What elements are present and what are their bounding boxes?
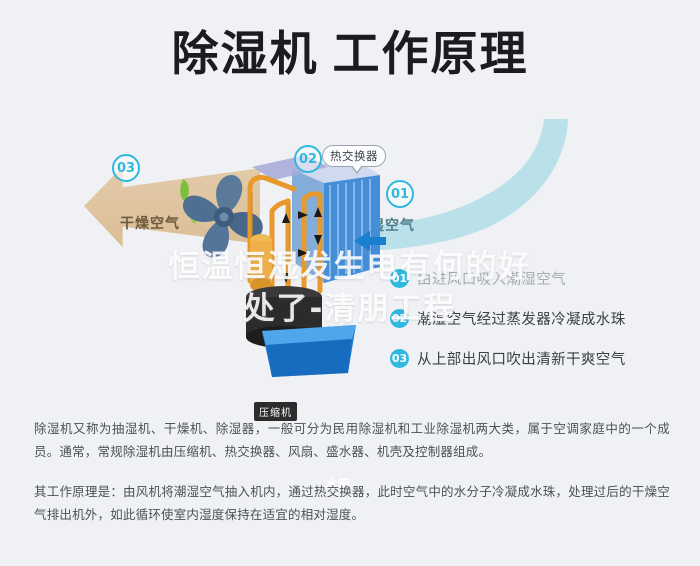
paragraph-2: 其工作原理是：由风机将潮湿空气抽入机内，通过热交换器，此时空气中的水分子冷凝成水… [34, 481, 670, 527]
infographic-page: 除湿机工作原理 干燥空气 潮湿空气 [0, 0, 700, 566]
step-label: 潮湿空气经过蒸发器冷凝成水珠 [417, 308, 626, 329]
step-badge-03: 03 [112, 154, 140, 182]
title-part-1: 除湿机 [172, 27, 319, 82]
list-item: 01 由进风口吸入潮湿空气 [390, 258, 680, 298]
dehumidifier-machine [228, 149, 388, 385]
step-badge-01: 01 [386, 180, 414, 208]
step-number: 02 [390, 309, 409, 328]
list-item: 02 潮湿空气经过蒸发器冷凝成水珠 [390, 298, 680, 338]
step-badge-02: 02 [294, 145, 322, 173]
page-title: 除湿机工作原理 [0, 26, 700, 84]
step-number: 01 [390, 269, 409, 288]
step-label: 从上部出风口吹出清新干爽空气 [417, 348, 626, 369]
dry-air-label: 干燥空气 [120, 213, 180, 233]
step-list: 01 由进风口吸入潮湿空气 02 潮湿空气经过蒸发器冷凝成水珠 03 从上部出风… [390, 258, 680, 378]
step-label: 由进风口吸入潮湿空气 [417, 268, 566, 289]
heat-exchanger-callout: 热交换器 [322, 145, 386, 167]
article-body: 除湿机又称为抽湿机、干燥机、除湿器，一般可分为民用除湿机和工业除湿机两大类，属于… [34, 418, 670, 527]
step-number: 03 [390, 349, 409, 368]
paragraph-1: 除湿机又称为抽湿机、干燥机、除湿器，一般可分为民用除湿机和工业除湿机两大类，属于… [34, 418, 670, 464]
title-part-2: 工作原理 [333, 27, 529, 82]
list-item: 03 从上部出风口吹出清新干爽空气 [390, 338, 680, 378]
